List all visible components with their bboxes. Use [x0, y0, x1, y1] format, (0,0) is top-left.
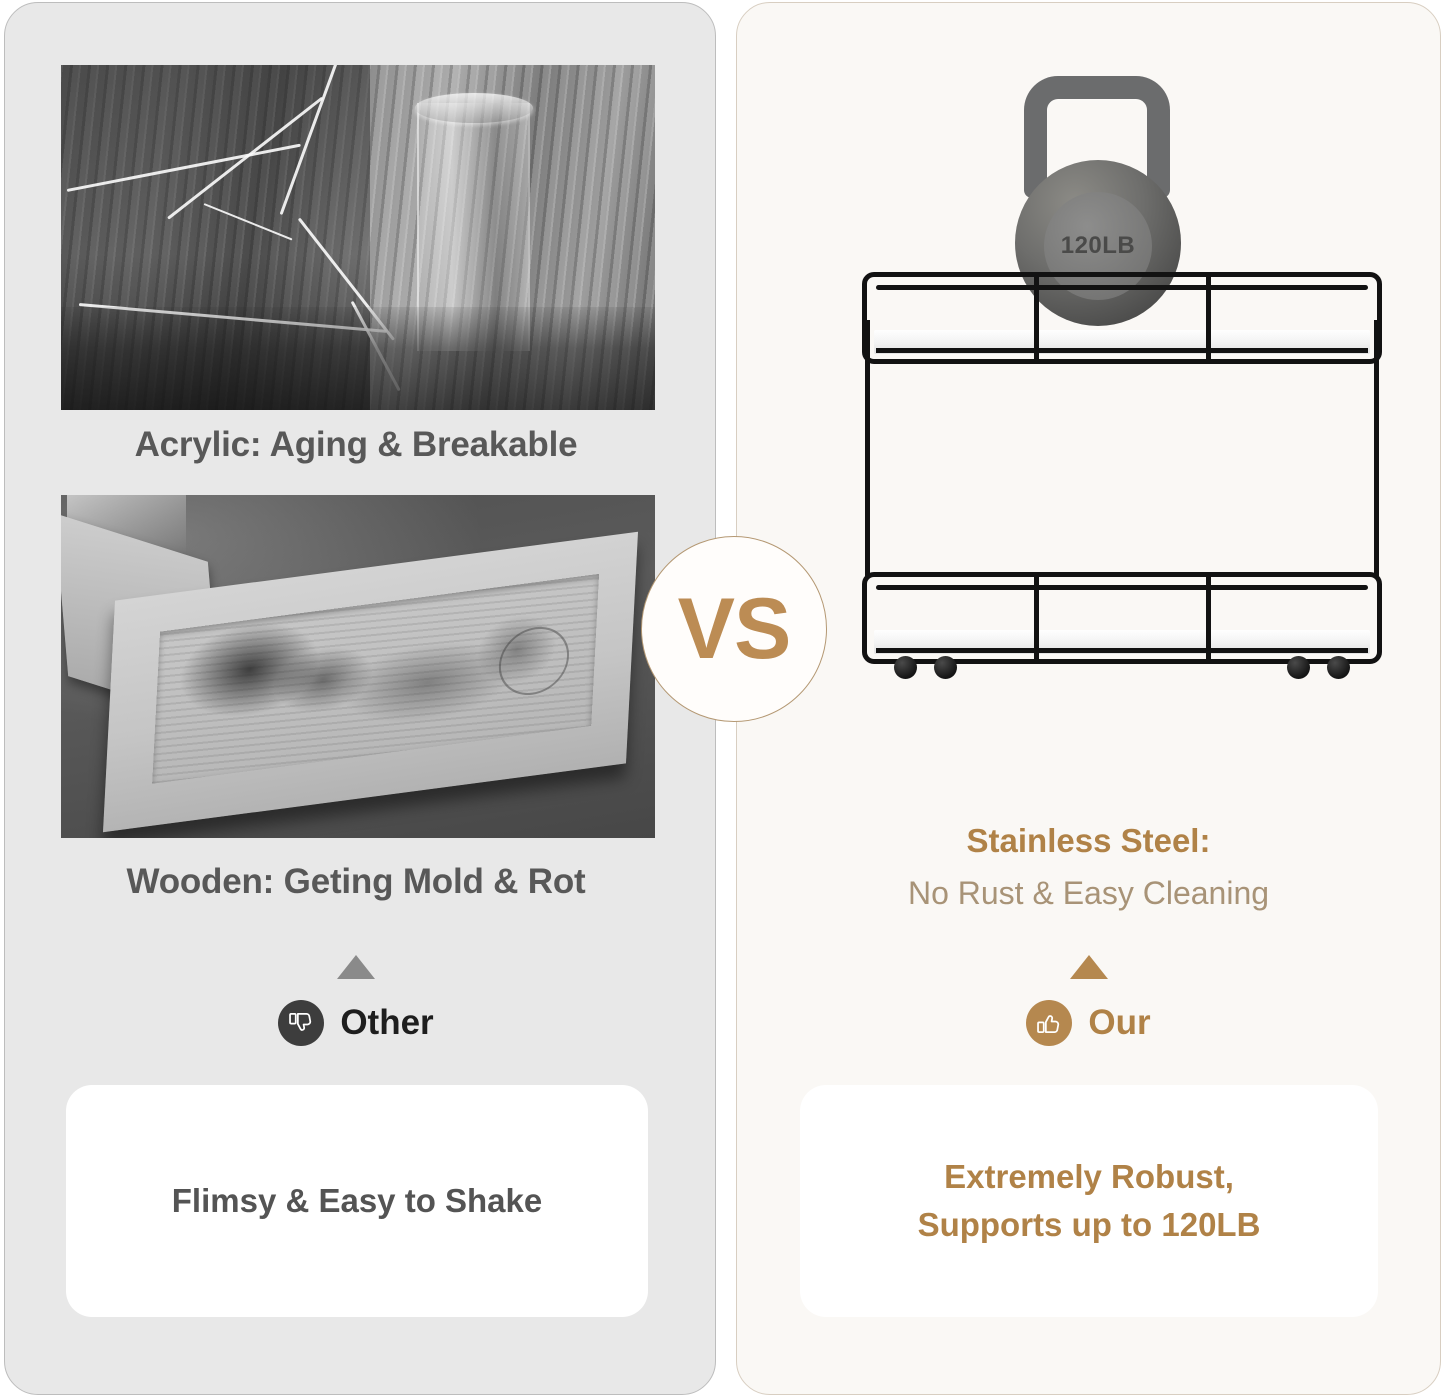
verdict-label-our: Our: [1088, 1003, 1150, 1043]
triangle-up-icon-our: [1070, 955, 1108, 979]
triangle-up-icon-other: [337, 955, 375, 979]
acrylic-floor: [61, 307, 655, 411]
bottom-shelf: [862, 572, 1382, 664]
verdict-other: Other: [0, 1000, 712, 1046]
shelf-divider: [1034, 576, 1039, 660]
vs-label: VS: [678, 580, 791, 679]
shelf-rail: [876, 285, 1368, 290]
verdict-our: Our: [736, 1000, 1441, 1046]
our-summary-card: Extremely Robust, Supports up to 120LB: [800, 1085, 1378, 1317]
verdict-label-other: Other: [340, 1003, 433, 1043]
shelf-divider: [1206, 576, 1211, 660]
shelf-rail: [876, 648, 1368, 653]
shelf-rail: [876, 585, 1368, 590]
thumbs-down-icon: [278, 1000, 324, 1046]
shelf-divider: [1206, 276, 1211, 360]
heading-no-rust: No Rust & Easy Cleaning: [736, 875, 1441, 912]
competitor-summary-card: Flimsy & Easy to Shake: [66, 1085, 648, 1317]
top-shelf: [862, 272, 1382, 364]
caption-wooden: Wooden: Geting Mold & Rot: [0, 862, 712, 902]
our-summary-text: Extremely Robust, Supports up to 120LB: [918, 1153, 1261, 1249]
competitor-summary-text: Flimsy & Easy to Shake: [172, 1179, 543, 1224]
thumbs-up-icon: [1026, 1000, 1072, 1046]
tray-interior: [152, 574, 599, 785]
caption-acrylic: Acrylic: Aging & Breakable: [0, 425, 712, 465]
caster-wheel: [894, 656, 917, 679]
caster-wheel: [1327, 656, 1350, 679]
caster-wheel: [1287, 656, 1310, 679]
our-summary-line1: Extremely Robust,: [918, 1153, 1261, 1201]
stainless-steel-rolling-shelf-rack: 120LB: [862, 76, 1382, 676]
caster-wheel: [934, 656, 957, 679]
shelf-divider: [1034, 276, 1039, 360]
heading-stainless-steel: Stainless Steel:: [736, 822, 1441, 860]
weight-label: 120LB: [1061, 232, 1136, 260]
shelf-rail: [876, 348, 1368, 353]
comparison-infographic: Acrylic: Aging & Breakable Wooden: Getin…: [0, 0, 1445, 1397]
moldy-wooden-tray-photo: [61, 495, 655, 838]
cracked-acrylic-photo: [61, 65, 655, 410]
vs-badge: VS: [641, 536, 827, 722]
our-summary-line2: Supports up to 120LB: [918, 1201, 1261, 1249]
